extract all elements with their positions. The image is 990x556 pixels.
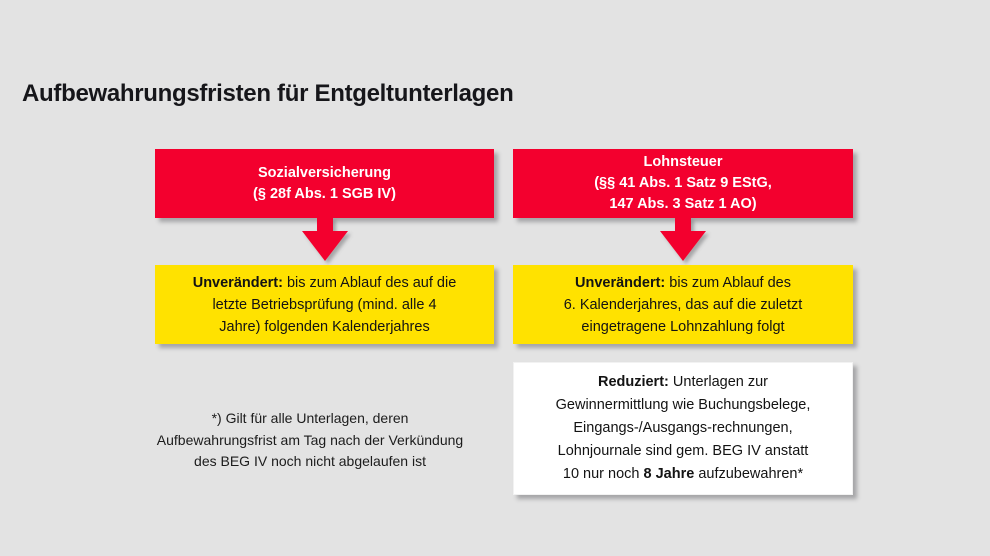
page-title: Aufbewahrungsfristen für Entgeltunterlag… (22, 80, 513, 108)
footnote-line1: *) Gilt für alle Unterlagen, deren (110, 408, 510, 430)
footnote: *) Gilt für alle Unterlagen, deren Aufbe… (110, 408, 510, 473)
footnote-line2: Aufbewahrungsfrist am Tag nach der Verkü… (110, 430, 510, 452)
sv-unchanged-line1: Unverändert: bis zum Ablauf des auf die (193, 272, 457, 294)
arrow-down-icon (295, 217, 355, 265)
lst-unchanged-label: Unverändert: (575, 275, 665, 291)
reduziert-line2: Gewinnermittlung wie Buchungsbelege, (556, 394, 811, 417)
lst-unchanged-line3: eingetragene Lohnzahlung folgt (581, 316, 784, 338)
reduziert-line4: Lohnjournale sind gem. BEG IV anstatt (558, 440, 809, 463)
reduziert-line1: Reduziert: Unterlagen zur (598, 371, 768, 394)
arrow-down-icon (653, 217, 713, 265)
sv-unchanged-line1-rest: bis zum Ablauf des auf die (283, 275, 456, 291)
box-lohnsteuer-header: Lohnsteuer (§§ 41 Abs. 1 Satz 9 EStG, 14… (513, 149, 853, 218)
sv-unchanged-line2: letzte Betriebsprüfung (mind. alle 4 (212, 294, 436, 316)
lst-unchanged-line1: Unverändert: bis zum Ablauf des (575, 272, 791, 294)
sozialversicherung-legal-ref: (§ 28f Abs. 1 SGB IV) (253, 184, 396, 205)
box-lohnsteuer-unveraendert: Unverändert: bis zum Ablauf des 6. Kalen… (513, 265, 853, 344)
sozialversicherung-title: Sozialversicherung (258, 163, 391, 184)
reduziert-line5: 10 nur noch 8 Jahre aufzubewahren* (563, 463, 803, 486)
box-sozialversicherung-header: Sozialversicherung (§ 28f Abs. 1 SGB IV) (155, 149, 494, 218)
reduziert-line5-post: aufzubewahren* (694, 466, 803, 482)
reduziert-label: Reduziert: (598, 374, 669, 390)
box-sozialversicherung-unveraendert: Unverändert: bis zum Ablauf des auf die … (155, 265, 494, 344)
lst-unchanged-line2: 6. Kalenderjahres, das auf die zuletzt (564, 294, 803, 316)
reduziert-line3: Eingangs-/Ausgangs-rechnungen, (573, 417, 792, 440)
reduziert-line5-pre: 10 nur noch (563, 466, 644, 482)
reduziert-years-value: 8 Jahre (644, 466, 695, 482)
sv-unchanged-line3: Jahre) folgenden Kalenderjahres (219, 316, 429, 338)
box-lohnsteuer-reduziert: Reduziert: Unterlagen zur Gewinnermittlu… (513, 362, 853, 495)
sv-unchanged-label: Unverändert: (193, 275, 283, 291)
lohnsteuer-title: Lohnsteuer (644, 152, 723, 173)
lohnsteuer-legal-ref-1: (§§ 41 Abs. 1 Satz 9 EStG, (594, 173, 772, 194)
reduziert-line1-rest: Unterlagen zur (669, 374, 768, 390)
footnote-line3: des BEG IV noch nicht abgelaufen ist (110, 451, 510, 473)
diagram-canvas: Aufbewahrungsfristen für Entgeltunterlag… (0, 0, 990, 556)
lst-unchanged-line1-rest: bis zum Ablauf des (665, 275, 791, 291)
lohnsteuer-legal-ref-2: 147 Abs. 3 Satz 1 AO) (609, 194, 756, 215)
